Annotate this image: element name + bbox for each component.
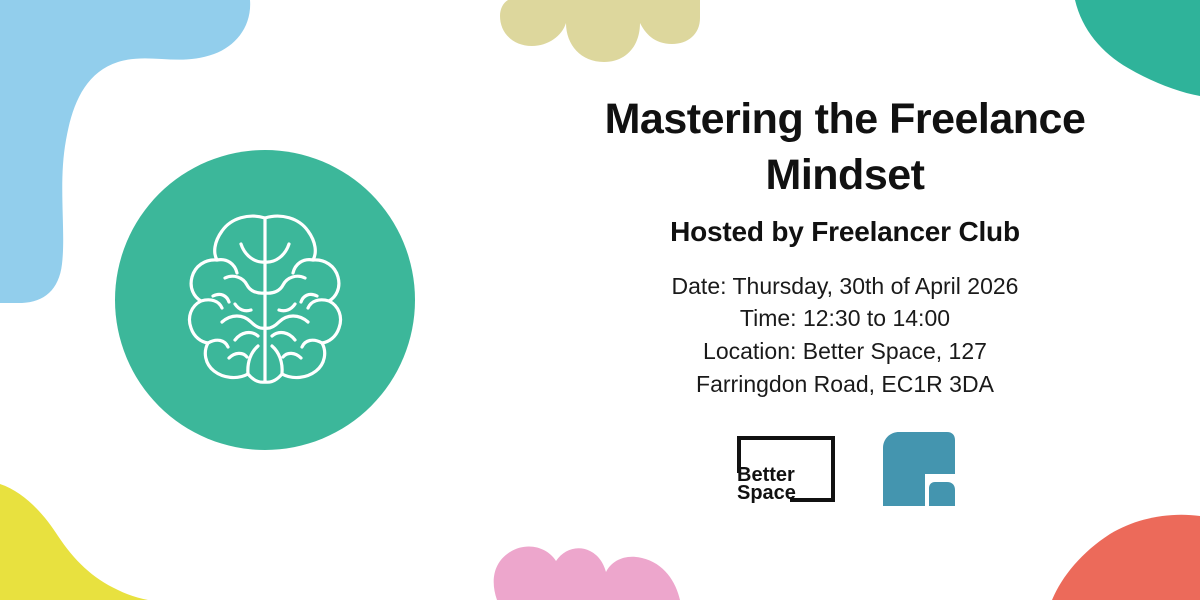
event-title: Mastering the Freelance Mindset <box>565 92 1125 204</box>
detail-location-line1: Location: Better Space, 127 <box>672 335 1019 368</box>
detail-date: Date: Thursday, 30th of April 2026 <box>672 270 1019 303</box>
freelancer-club-logo <box>873 430 957 508</box>
logo-row: Better Space <box>733 430 957 508</box>
event-host: Hosted by Freelancer Club <box>670 216 1020 248</box>
detail-time: Time: 12:30 to 14:00 <box>672 302 1019 335</box>
flyer-content: Mastering the Freelance Mindset Hosted b… <box>0 0 1200 600</box>
event-flyer: Mastering the Freelance Mindset Hosted b… <box>0 0 1200 600</box>
better-space-logo: Better Space <box>733 433 837 505</box>
event-details: Date: Thursday, 30th of April 2026 Time:… <box>672 270 1019 401</box>
brain-icon <box>165 200 365 400</box>
better-space-logo-line2: Space <box>737 482 796 504</box>
brain-icon-circle <box>115 150 415 450</box>
detail-location-line2: Farringdon Road, EC1R 3DA <box>672 368 1019 401</box>
text-column: Mastering the Freelance Mindset Hosted b… <box>520 92 1200 508</box>
brain-icon-column <box>0 150 520 450</box>
